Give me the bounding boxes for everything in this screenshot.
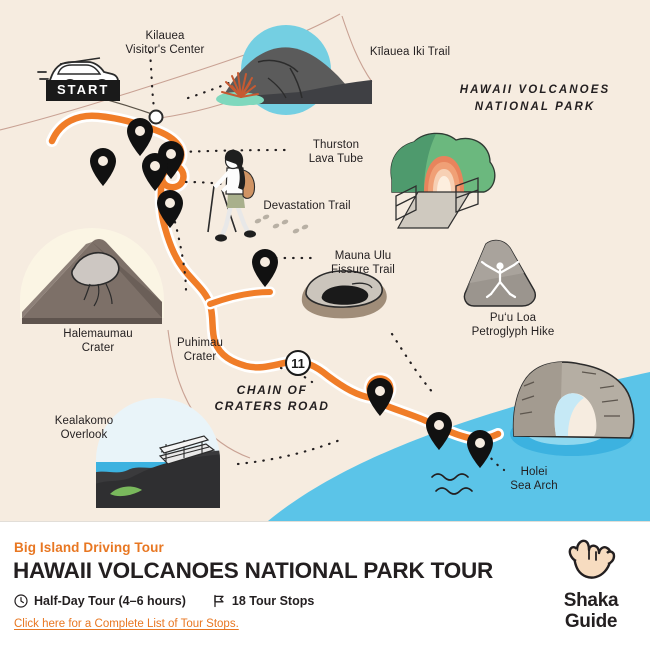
tour-category-label: Big Island Driving Tour [14,540,164,555]
label-devastation-trail: Devastation Trail [252,200,362,214]
start-badge: START [46,80,120,101]
logo-line-1: Shaka [564,590,618,611]
flag-icon [212,594,226,608]
page-title: HAWAII VOLCANOES NATIONAL PARK TOUR [13,558,493,584]
tour-stops-list-link[interactable]: Click here for a Complete List of Tour S… [14,618,239,630]
shaka-guide-logo[interactable]: ShakaGuide [548,536,634,632]
clock-icon [14,594,28,608]
holei-sea-arch-illustration [510,362,634,456]
halemaumau-crater-illustration [20,228,164,324]
shaka-hand-icon [563,536,619,584]
tour-meta-row: Half-Day Tour (4–6 hours) 18 Tour Stops [14,594,314,608]
thurston-lava-tube-illustration [391,133,495,228]
park-name-label: HAWAII VOLCANOES NATIONAL PARK [440,82,630,116]
logo-line-2: Guide [565,611,617,632]
tour-duration-label: Half-Day Tour (4–6 hours) [34,594,186,608]
hiker-illustration [208,150,309,242]
tour-map-card: START 11 HAWAII VOLCANOES NATIONAL PARK … [0,0,650,648]
tour-info-footer: Big Island Driving Tour HAWAII VOLCANOES… [0,521,650,648]
highway-shield-11: 11 [285,350,311,376]
label-kilauea-visitors-center: Kilauea Visitor's Center [100,30,230,57]
shaka-guide-wordmark: ShakaGuide [548,590,634,632]
kilauea-iki-illustration [216,25,372,115]
puu-loa-illustration [464,241,535,306]
tour-stop-count-label: 18 Tour Stops [232,594,314,608]
label-halemaumau-crater: Halemaumau Crater [40,328,156,355]
chain-of-craters-road-label: CHAIN OF CRATERS ROAD [194,382,350,414]
mauna-ulu-illustration [302,271,387,318]
label-holei-sea-arch: Holei Sea Arch [498,466,570,493]
tour-duration: Half-Day Tour (4–6 hours) [14,594,186,608]
label-thurston-lava-tube: Thurston Lava Tube [296,139,376,166]
label-puhimau-crater: Puhimau Crater [163,337,237,364]
start-node [150,111,163,124]
label-kilauea-iki-trail: Kīlauea Iki Trail [350,46,470,60]
label-mauna-ulu-fissure-trail: Mauna Ulu Fissure Trail [320,250,406,277]
label-puu-loa-petroglyph-hike: Pu‘u Loa Petroglyph Hike [452,312,574,339]
tour-stop-count: 18 Tour Stops [212,594,314,608]
label-kealakomo-overlook: Kealakomo Overlook [35,415,133,442]
map-canvas[interactable]: START 11 HAWAII VOLCANOES NATIONAL PARK … [0,0,650,521]
